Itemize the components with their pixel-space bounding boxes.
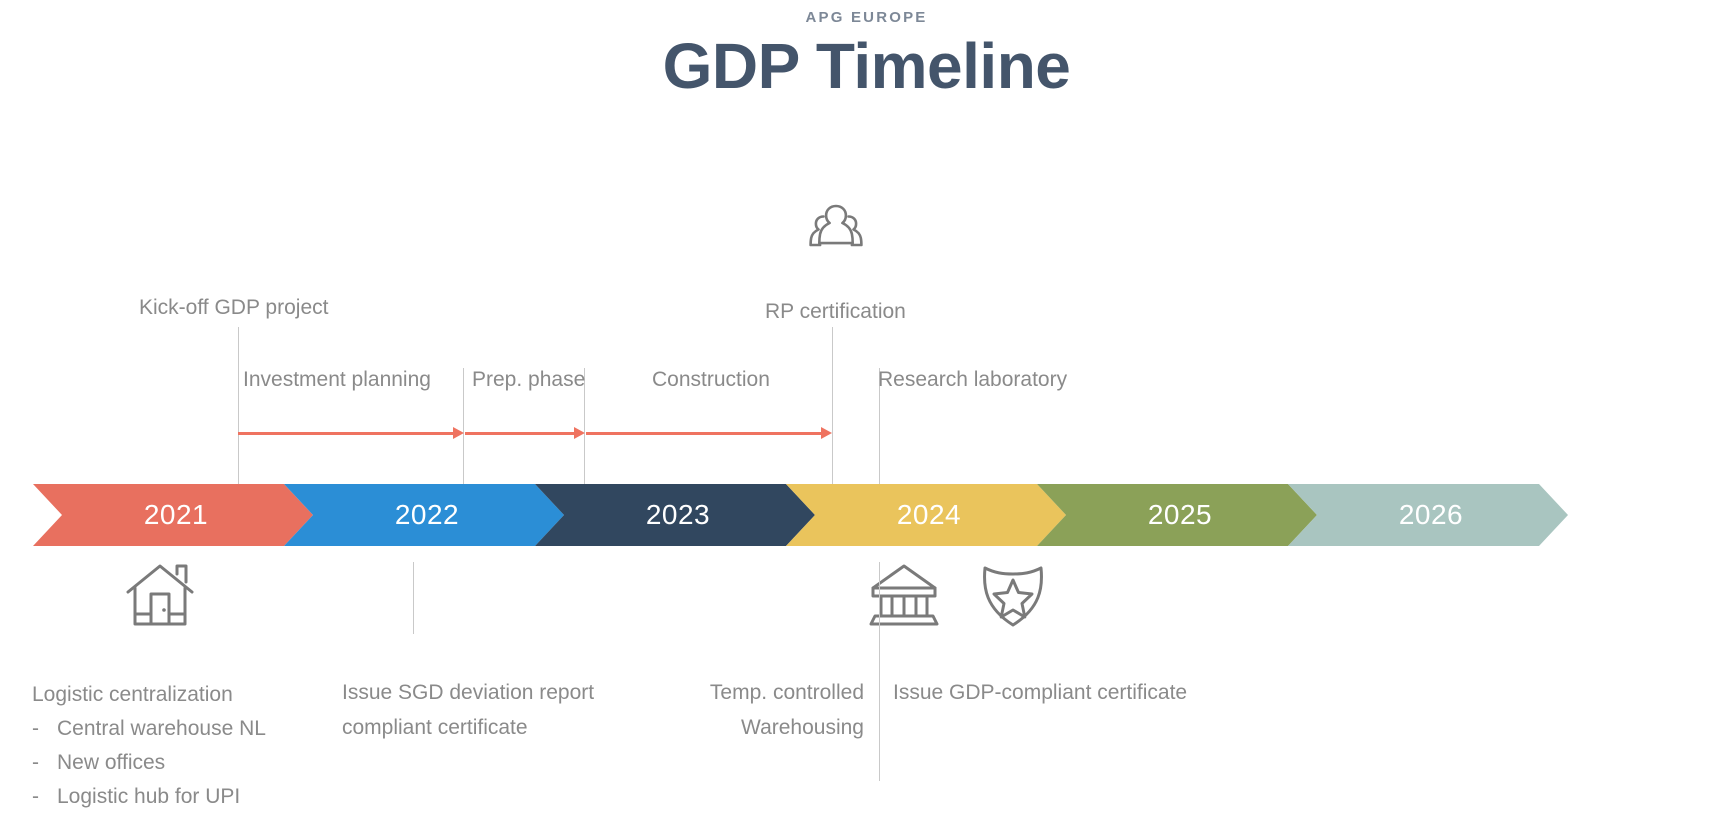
year-label-2022: 2022 — [389, 499, 459, 531]
tick-line-prep-start — [463, 368, 464, 484]
year-chevron-2024[interactable]: 2024 — [786, 484, 1066, 546]
year-label-2023: 2023 — [640, 499, 710, 531]
tick-line-rp-certification — [832, 327, 833, 484]
year-label-2024: 2024 — [891, 499, 961, 531]
list-item-label: Central warehouse NL — [57, 712, 266, 746]
phase-label-investment-planning: Investment planning — [243, 366, 431, 394]
list-item-label: New offices — [57, 746, 165, 780]
note-block-logistic-centralization: Logistic centralization - Central wareho… — [32, 678, 332, 814]
group-people-icon — [800, 198, 872, 254]
list-item: - New offices — [32, 746, 332, 780]
bullet-marker: - — [32, 712, 57, 746]
year-chevron-2025[interactable]: 2025 — [1037, 484, 1317, 546]
phase-arrowhead-investment-planning — [453, 427, 464, 439]
tick-line-gdp-cert-note — [879, 562, 880, 781]
note-block-warehousing: Temp. controlled Warehousing — [600, 675, 864, 745]
phase-arrow-prep-phase — [465, 432, 575, 435]
year-chevron-2022[interactable]: 2022 — [284, 484, 564, 546]
note-heading-logistic: Logistic centralization — [32, 678, 332, 712]
note-line-sgd-2: compliant certificate — [342, 710, 642, 745]
milestone-label-kickoff: Kick-off GDP project — [139, 294, 328, 322]
house-icon — [125, 562, 195, 628]
brand-eyebrow: APG EUROPE — [0, 9, 1733, 26]
phase-arrow-investment-planning — [238, 432, 454, 435]
list-item: - Central warehouse NL — [32, 712, 332, 746]
list-item: - Logistic hub for UPI — [32, 780, 332, 814]
list-item-label: Logistic hub for UPI — [57, 780, 240, 814]
tick-line-sgd-note — [413, 562, 414, 634]
note-block-gdp-certificate: Issue GDP-compliant certificate — [893, 675, 1313, 710]
phase-arrowhead-construction — [821, 427, 832, 439]
milestone-label-rp-certification: RP certification — [765, 298, 906, 326]
tick-line-2021-start — [238, 327, 239, 484]
note-line-warehousing-1: Temp. controlled — [600, 675, 864, 710]
phase-arrow-construction — [586, 432, 822, 435]
year-label-2025: 2025 — [1142, 499, 1212, 531]
year-chevron-2026[interactable]: 2026 — [1288, 484, 1568, 546]
note-line-sgd-1: Issue SGD deviation report — [342, 675, 642, 710]
phase-label-research-laboratory: Research laboratory — [878, 366, 1067, 394]
phase-label-construction: Construction — [652, 366, 770, 394]
timeline-year-band: 2021 2022 2023 2024 2025 2026 — [0, 484, 1733, 546]
page-header: APG EUROPE GDP Timeline — [0, 0, 1733, 100]
year-chevron-2023[interactable]: 2023 — [535, 484, 815, 546]
phase-label-prep-phase: Prep. phase — [472, 366, 585, 394]
note-line-warehousing-2: Warehousing — [600, 710, 864, 745]
year-label-2026: 2026 — [1393, 499, 1463, 531]
note-block-sgd-deviation: Issue SGD deviation report compliant cer… — [342, 675, 642, 745]
year-label-2021: 2021 — [138, 499, 208, 531]
page-title: GDP Timeline — [0, 33, 1733, 100]
shield-star-icon — [977, 560, 1049, 630]
year-chevron-2021[interactable]: 2021 — [33, 484, 313, 546]
phase-arrowhead-prep-phase — [574, 427, 585, 439]
bullet-marker: - — [32, 746, 57, 780]
bullet-marker: - — [32, 780, 57, 814]
note-line-gdp-cert: Issue GDP-compliant certificate — [893, 675, 1313, 710]
